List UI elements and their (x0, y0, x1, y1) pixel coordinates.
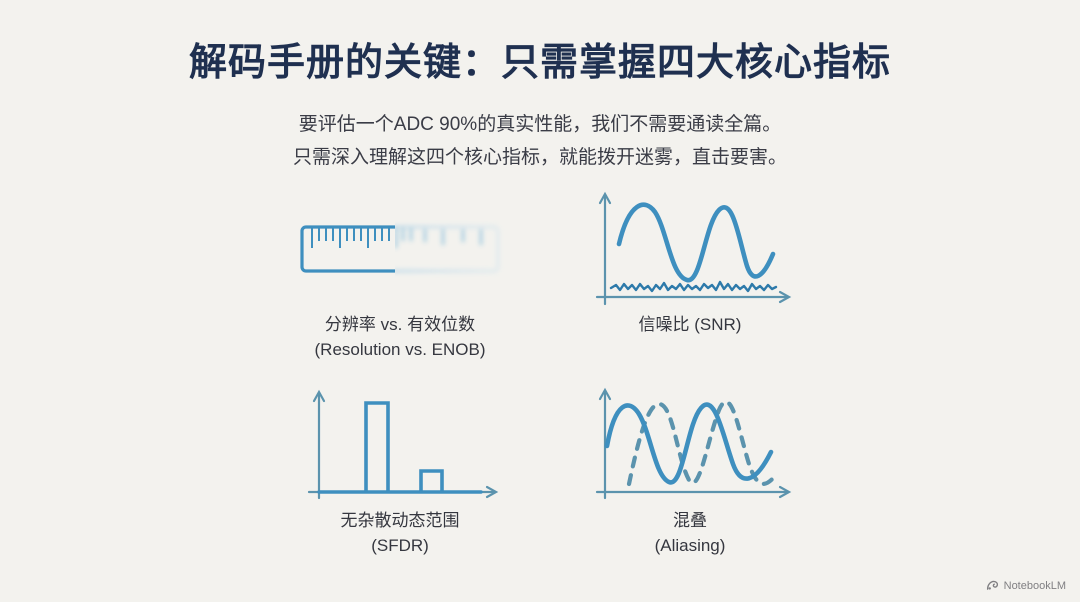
metric-card-resolution: 分辨率 vs. 有效位数 (Resolution vs. ENOB) (255, 185, 545, 380)
metric-caption-aliasing: 混叠 (Aliasing) (545, 509, 835, 558)
page-title: 解码手册的关键：只需掌握四大核心指标 (0, 40, 1080, 88)
metric-label-en-sfdr: (SFDR) (255, 534, 545, 559)
metric-card-aliasing: 混叠 (Aliasing) (545, 381, 835, 576)
subtitle-line-2: 只需深入理解这四个核心指标，就能拨开迷雾，直击要害。 (0, 141, 1080, 174)
metric-caption-resolution: 分辨率 vs. 有效位数 (Resolution vs. ENOB) (255, 313, 545, 362)
metric-label-cn-snr: 信噪比 (SNR) (545, 313, 835, 338)
metric-art-sfdr (255, 381, 545, 511)
metric-art-aliasing (545, 381, 835, 511)
two-sine-aliasing-icon (583, 380, 798, 513)
metric-card-snr: 信噪比 (SNR) (545, 185, 835, 380)
metric-caption-sfdr: 无杂散动态范围 (SFDR) (255, 509, 545, 558)
metric-label-en-aliasing: (Aliasing) (545, 534, 835, 559)
metric-label-en-resolution: (Resolution vs. ENOB) (255, 338, 545, 363)
metric-art-resolution (255, 185, 545, 315)
notebooklm-watermark: NotebookLM (986, 579, 1066, 592)
subtitle-line-1: 要评估一个ADC 90%的真实性能，我们不需要通读全篇。 (0, 108, 1080, 141)
metric-card-sfdr: 无杂散动态范围 (SFDR) (255, 381, 545, 576)
ruler-icon (295, 215, 505, 285)
notebooklm-logo-icon (986, 579, 999, 592)
notebooklm-label: NotebookLM (1004, 580, 1066, 592)
metric-caption-snr: 信噪比 (SNR) (545, 313, 835, 338)
sine-with-noise-icon (583, 184, 798, 317)
page-subtitle: 要评估一个ADC 90%的真实性能，我们不需要通读全篇。 只需深入理解这四个核心… (0, 108, 1080, 175)
metric-label-cn-aliasing: 混叠 (545, 509, 835, 534)
spectrum-bars-icon (295, 380, 505, 513)
metric-label-cn-sfdr: 无杂散动态范围 (255, 509, 545, 534)
metrics-grid: 分辨率 vs. 有效位数 (Resolution vs. ENOB) (255, 185, 835, 575)
metric-label-cn-resolution: 分辨率 vs. 有效位数 (255, 313, 545, 338)
metric-art-snr (545, 185, 835, 315)
slide-canvas: 解码手册的关键：只需掌握四大核心指标 要评估一个ADC 90%的真实性能，我们不… (0, 0, 1080, 602)
